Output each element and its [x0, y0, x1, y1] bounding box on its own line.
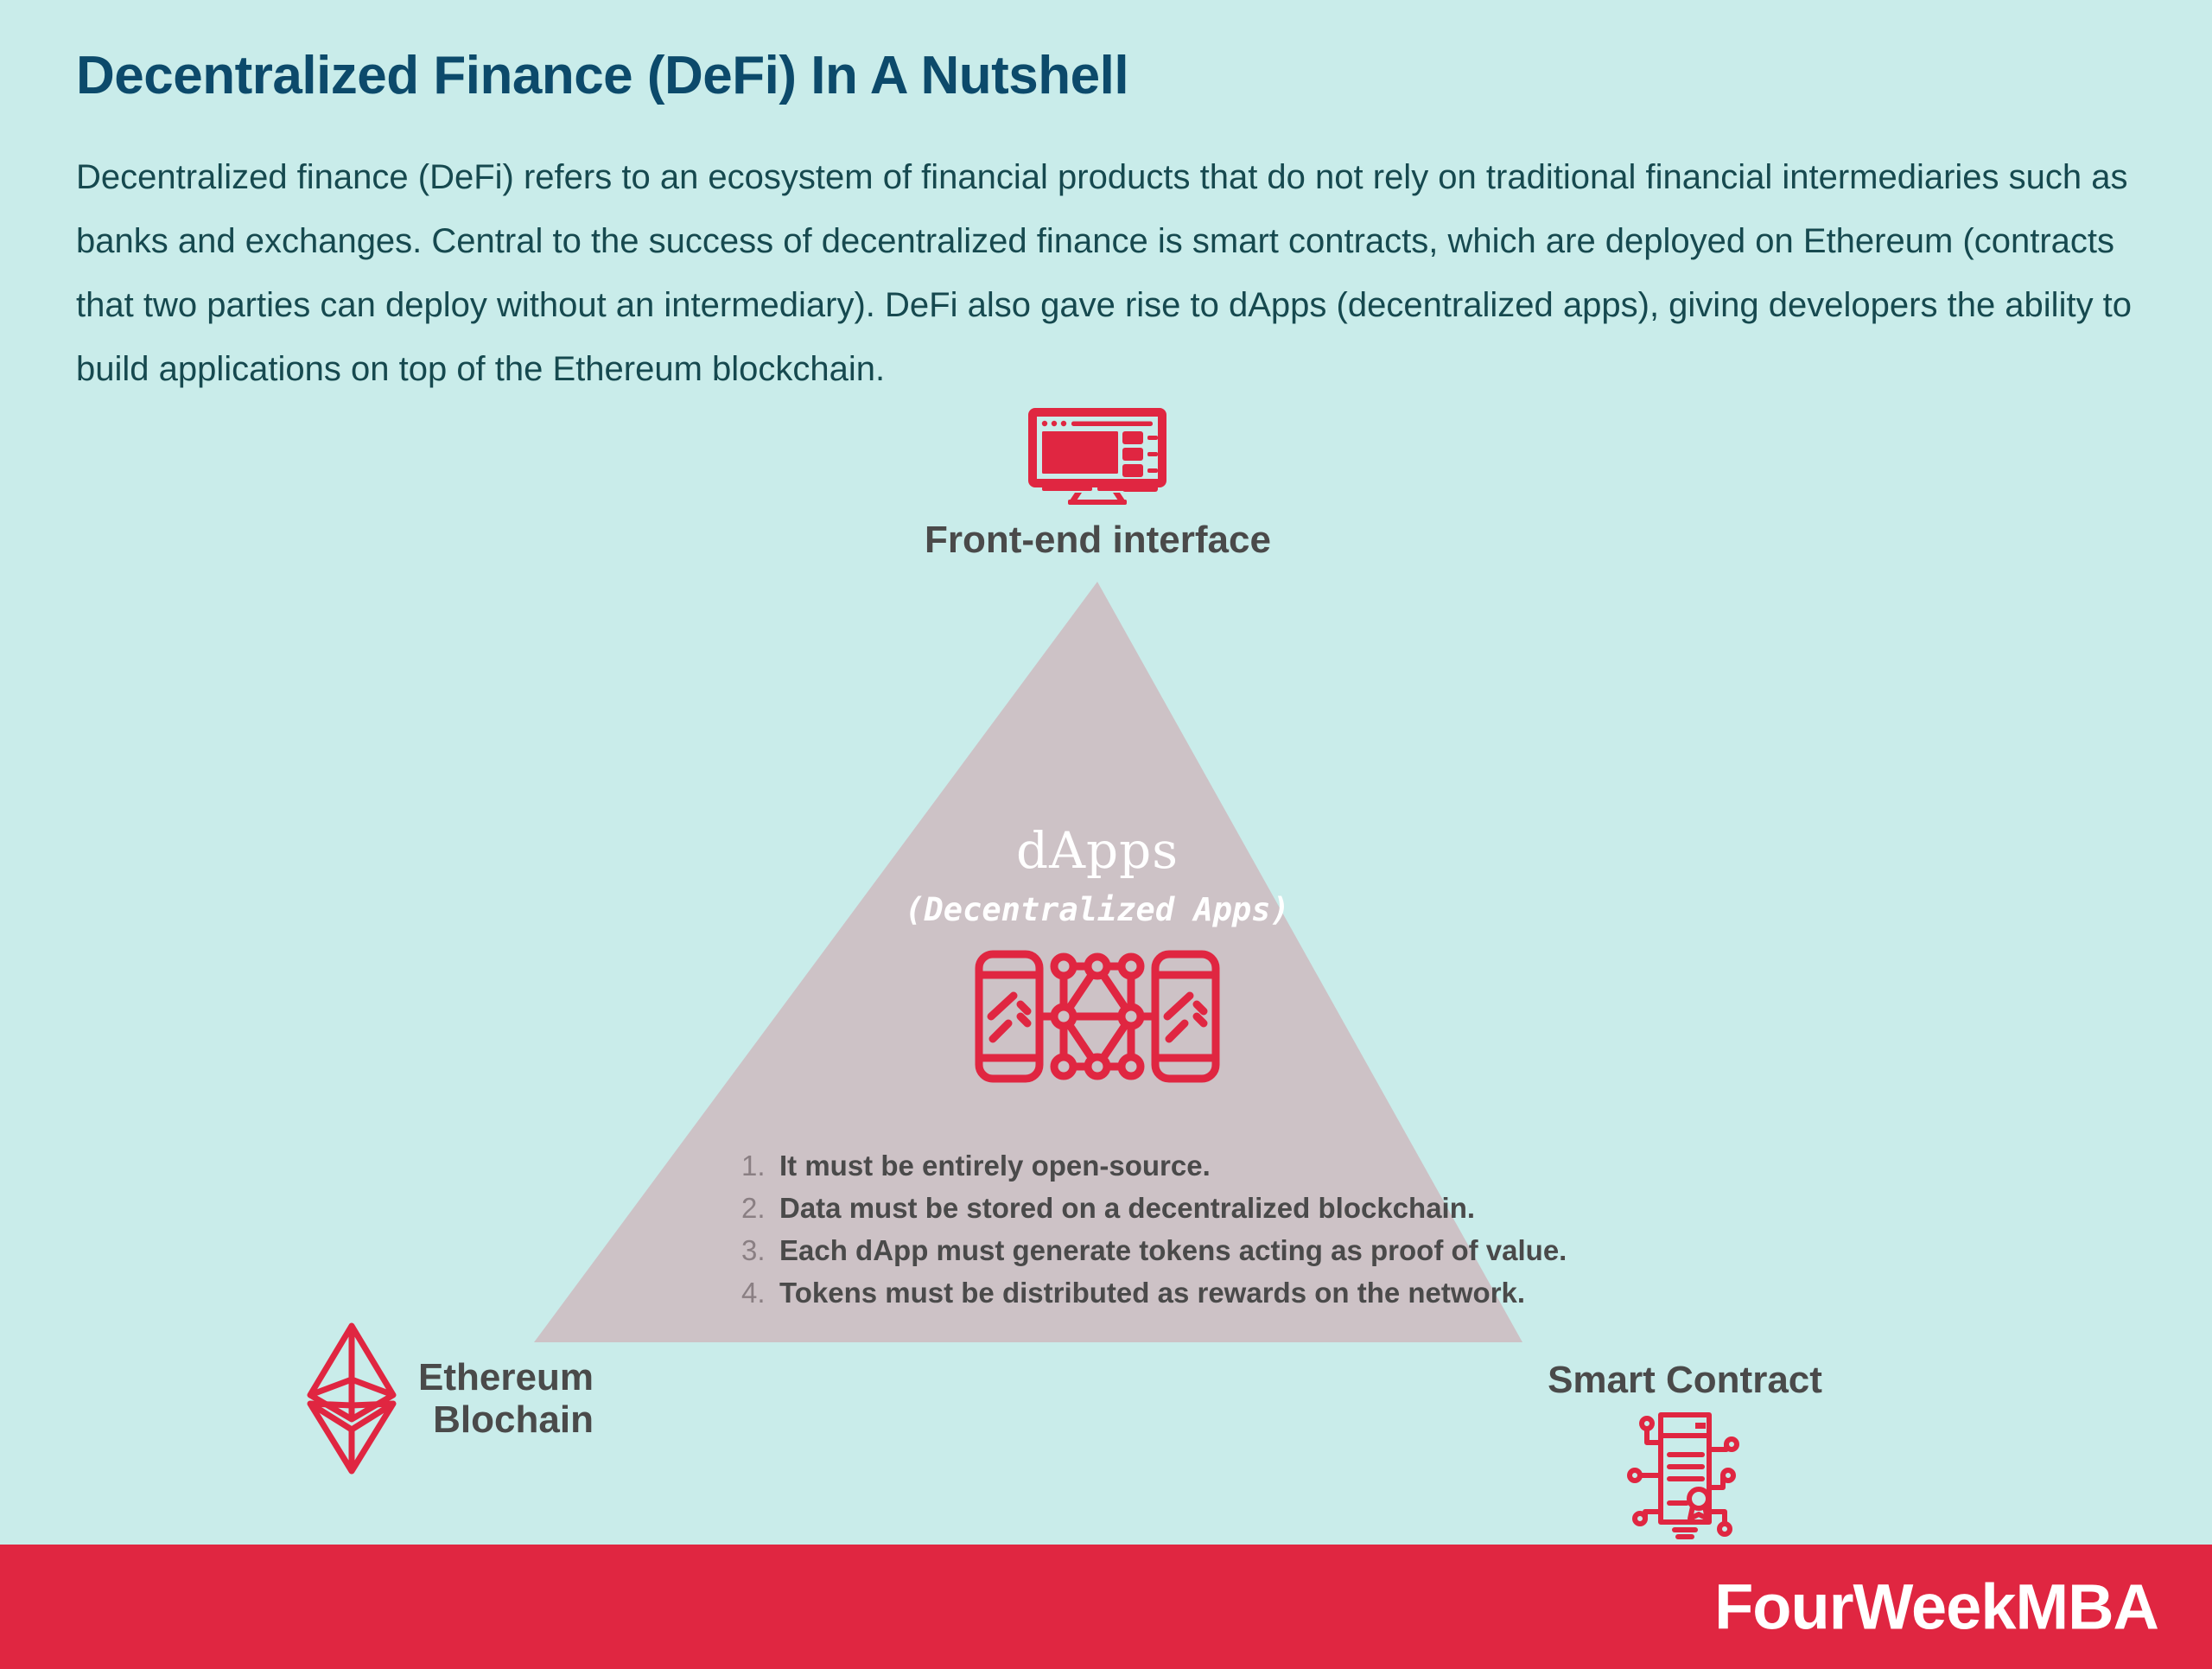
- node-smart-contract: Smart Contract: [1503, 1359, 1866, 1539]
- list-item-number: 4.: [741, 1277, 779, 1309]
- brand-logo-fourweekmba: FourWeekMBA: [1714, 1570, 2158, 1644]
- list-item: 1. It must be entirely open-source.: [741, 1150, 1605, 1182]
- list-item: 2. Data must be stored on a decentralize…: [741, 1192, 1605, 1225]
- ethereum-label-line2: Blochain: [418, 1398, 594, 1441]
- list-item-number: 1.: [741, 1150, 779, 1182]
- list-item: 3. Each dApp must generate tokens acting…: [741, 1234, 1605, 1267]
- node-label-front-end: Front-end interface: [925, 519, 1270, 561]
- list-item-text: Each dApp must generate tokens acting as…: [779, 1234, 1567, 1267]
- list-item-text: Tokens must be distributed as rewards on…: [779, 1277, 1525, 1309]
- ethereum-label-line1: Ethereum: [418, 1356, 594, 1398]
- node-label-smart-contract: Smart Contract: [1503, 1359, 1866, 1401]
- list-item-text: It must be entirely open-source.: [779, 1150, 1211, 1182]
- intro-paragraph: Decentralized finance (DeFi) refers to a…: [76, 145, 2141, 401]
- node-label-ethereum: Ethereum Blochain: [418, 1356, 594, 1442]
- ethereum-diamond-icon: [304, 1322, 399, 1475]
- footer-bar: FourWeekMBA: [0, 1545, 2212, 1669]
- list-item-text: Data must be stored on a decentralized b…: [779, 1192, 1475, 1225]
- list-item-number: 3.: [741, 1234, 779, 1267]
- dapps-rules-list: 1. It must be entirely open-source. 2. D…: [741, 1150, 1605, 1319]
- monitor-browser-video-icon: [1027, 406, 1168, 506]
- dapps-block: dApps (Decentralized Apps): [752, 825, 1443, 1086]
- infographic-canvas: Decentralized Finance (DeFi) In A Nutshe…: [0, 0, 2212, 1669]
- dapps-title: dApps: [752, 825, 1443, 876]
- list-item-number: 2.: [741, 1192, 779, 1225]
- two-phones-network-mesh-icon: [974, 947, 1221, 1086]
- contract-document-seal-icon: [1616, 1410, 1754, 1539]
- node-front-end-interface: Front-end interface: [925, 406, 1270, 561]
- page-title: Decentralized Finance (DeFi) In A Nutshe…: [76, 45, 1128, 106]
- list-item: 4. Tokens must be distributed as rewards…: [741, 1277, 1605, 1309]
- node-ethereum-blockchain: Ethereum Blochain: [304, 1322, 594, 1475]
- dapps-subtitle: (Decentralized Apps): [752, 891, 1443, 928]
